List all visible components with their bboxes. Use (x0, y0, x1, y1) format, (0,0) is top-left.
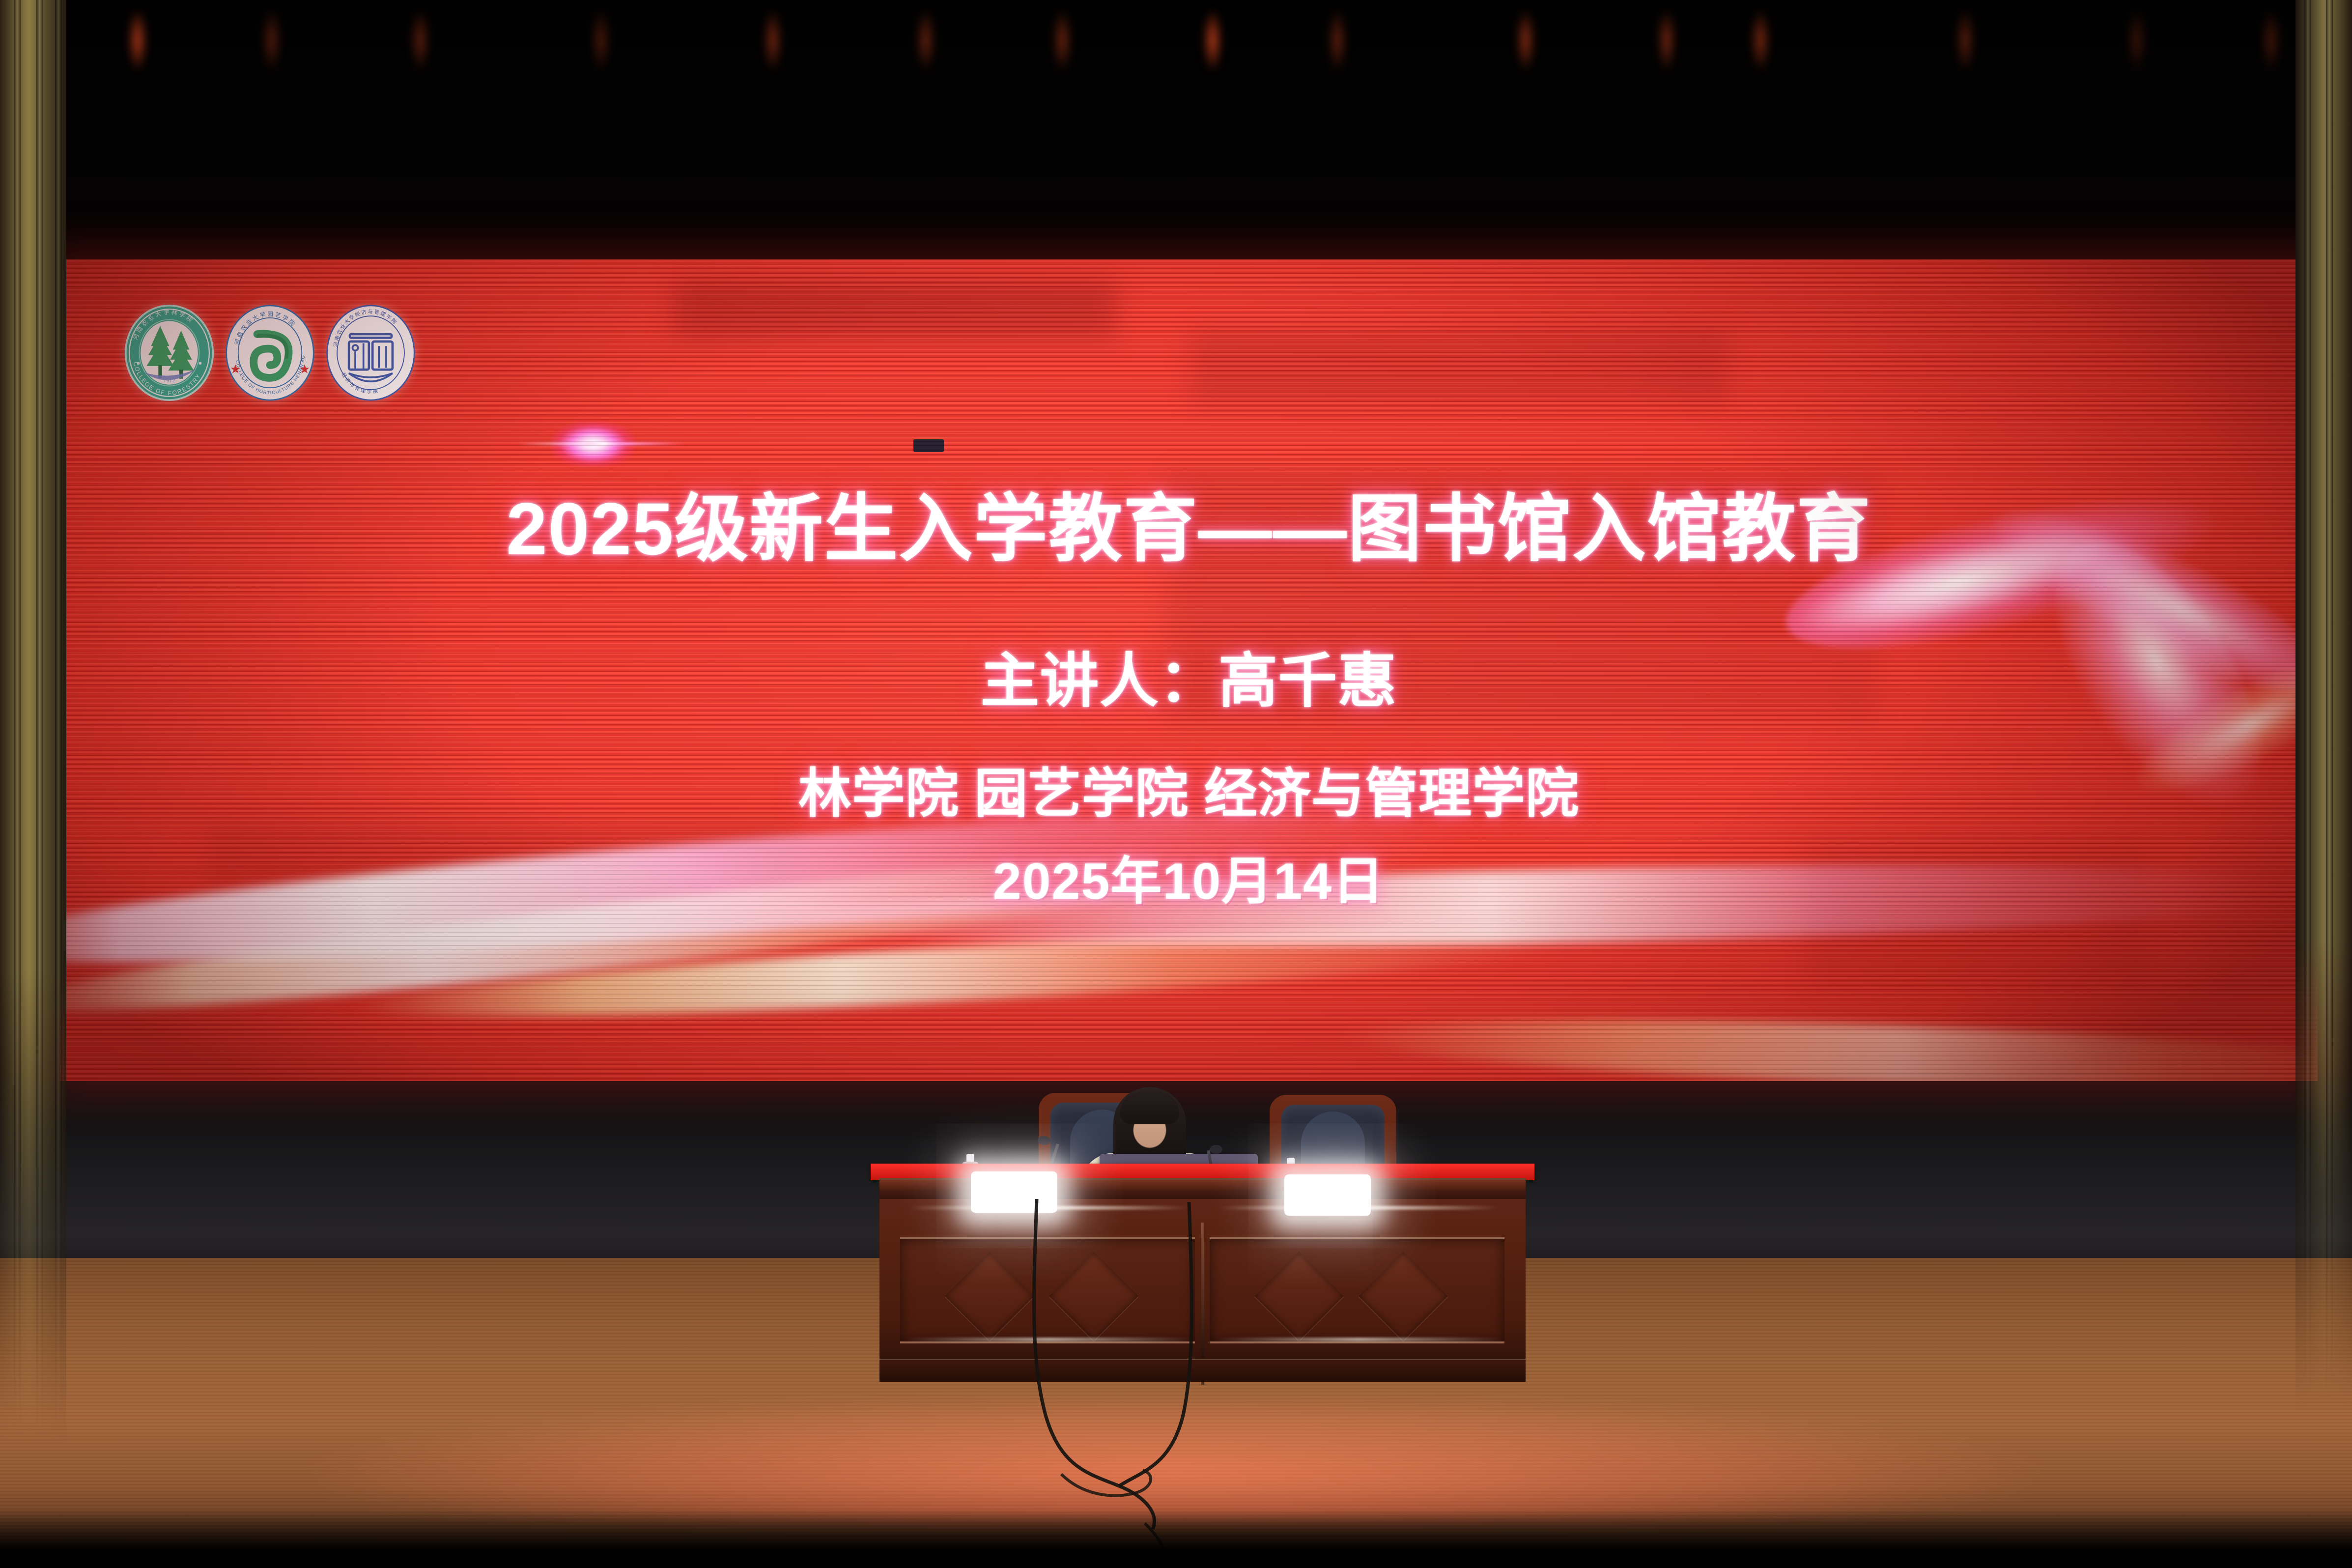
presenter-fringe (1120, 1092, 1179, 1124)
ceiling-light (2128, 11, 2145, 70)
curtain-fold (2304, 0, 2311, 1568)
ceiling-light (1329, 11, 1346, 70)
ceiling-light (412, 11, 428, 70)
curtain-fold (2326, 0, 2333, 1568)
auditorium-scene: 1912 COLLEGE OF FORESTRY 河南农业大学林学院 (0, 0, 2352, 1568)
ceiling-light (593, 11, 609, 70)
microphone-right-head (1210, 1145, 1222, 1154)
ceiling-light (129, 11, 146, 70)
ceiling-light (917, 11, 934, 70)
ceiling-light (2263, 11, 2279, 70)
stage-curtain-left (0, 0, 66, 1568)
ceiling-light (1054, 11, 1071, 70)
ceiling-light (1957, 11, 1974, 70)
led-vignette (60, 259, 2318, 1081)
curtain-fold (55, 0, 62, 1568)
ceiling-light (1752, 11, 1769, 70)
ceiling-light (1517, 11, 1534, 70)
stage-curtain-right (2295, 0, 2352, 1568)
cable-bundle (914, 1199, 1356, 1543)
table-diamond (1359, 1252, 1447, 1340)
led-display-screen: 1912 COLLEGE OF FORESTRY 河南农业大学林学院 (60, 259, 2318, 1081)
ceiling-light (1658, 11, 1675, 70)
ceiling-light-row (0, 11, 2352, 75)
ceiling-light (1204, 11, 1221, 70)
table-red-cloth (871, 1164, 1534, 1180)
microphone-left-head (1038, 1136, 1050, 1145)
curtain-fold (14, 0, 21, 1568)
ceiling-light (765, 11, 781, 70)
curtain-fold (36, 0, 43, 1568)
floor-shadow (0, 1509, 2352, 1568)
ceiling-light (263, 11, 280, 70)
